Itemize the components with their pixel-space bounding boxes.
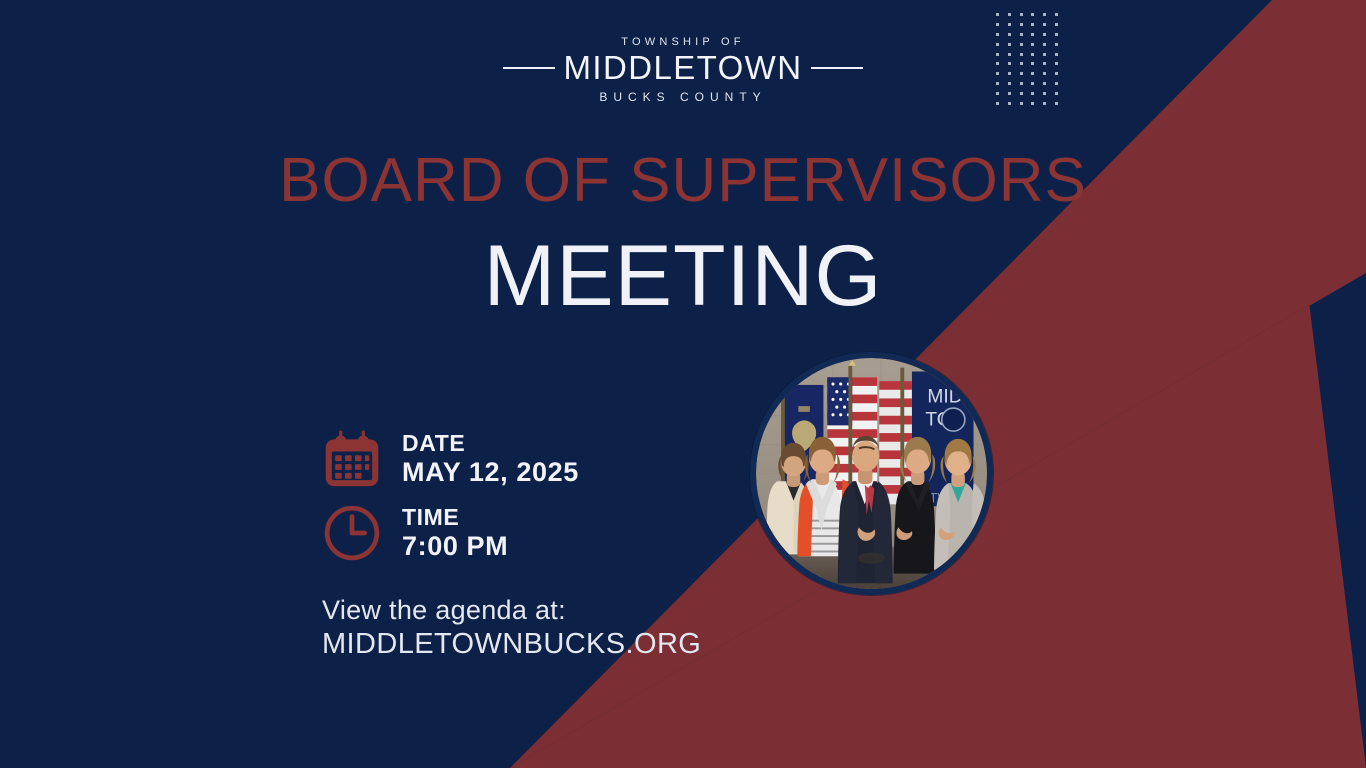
logo-rule-right	[811, 67, 863, 69]
logo-name-row: MIDDLETOWN	[0, 51, 1366, 84]
detail-value-date: MAY 12, 2025	[402, 457, 579, 487]
agenda-website-url[interactable]: MIDDLETOWNBUCKS.ORG	[322, 627, 701, 662]
township-logo: TOWNSHIP OF MIDDLETOWN BUCKS COUNTY	[0, 36, 1366, 104]
calendar-icon	[322, 428, 382, 490]
logo-top-line: TOWNSHIP OF	[0, 36, 1366, 48]
logo-bottom-line: BUCKS COUNTY	[0, 90, 1366, 104]
headline-primary: BOARD OF SUPERVISORS	[0, 148, 1366, 215]
clock-icon	[322, 502, 382, 564]
svg-text:MID: MID	[927, 386, 962, 407]
detail-text-time: TIME 7:00 PM	[402, 505, 508, 561]
agenda-callout: View the agenda at: MIDDLETOWNBUCKS.ORG	[322, 594, 701, 662]
detail-value-time: 7:00 PM	[402, 531, 508, 561]
logo-rule-left	[503, 67, 555, 69]
headline-secondary: MEETING	[0, 233, 1366, 319]
detail-row-date: DATE MAY 12, 2025	[322, 428, 742, 490]
agenda-prompt: View the agenda at:	[322, 594, 701, 627]
meeting-announcement-poster: TOWNSHIP OF MIDDLETOWN BUCKS COUNTY BOAR…	[0, 0, 1366, 768]
event-details: DATE MAY 12, 2025 TIME 7:00 PM	[322, 428, 742, 576]
logo-township-name: MIDDLETOWN	[564, 51, 803, 84]
detail-label-date: DATE	[402, 431, 579, 457]
headline-block: BOARD OF SUPERVISORS MEETING	[0, 148, 1366, 319]
detail-label-time: TIME	[402, 505, 508, 531]
detail-row-time: TIME 7:00 PM	[322, 502, 742, 564]
detail-text-date: DATE MAY 12, 2025	[402, 431, 579, 487]
supervisors-group-photo: MID TO TW	[750, 352, 993, 595]
